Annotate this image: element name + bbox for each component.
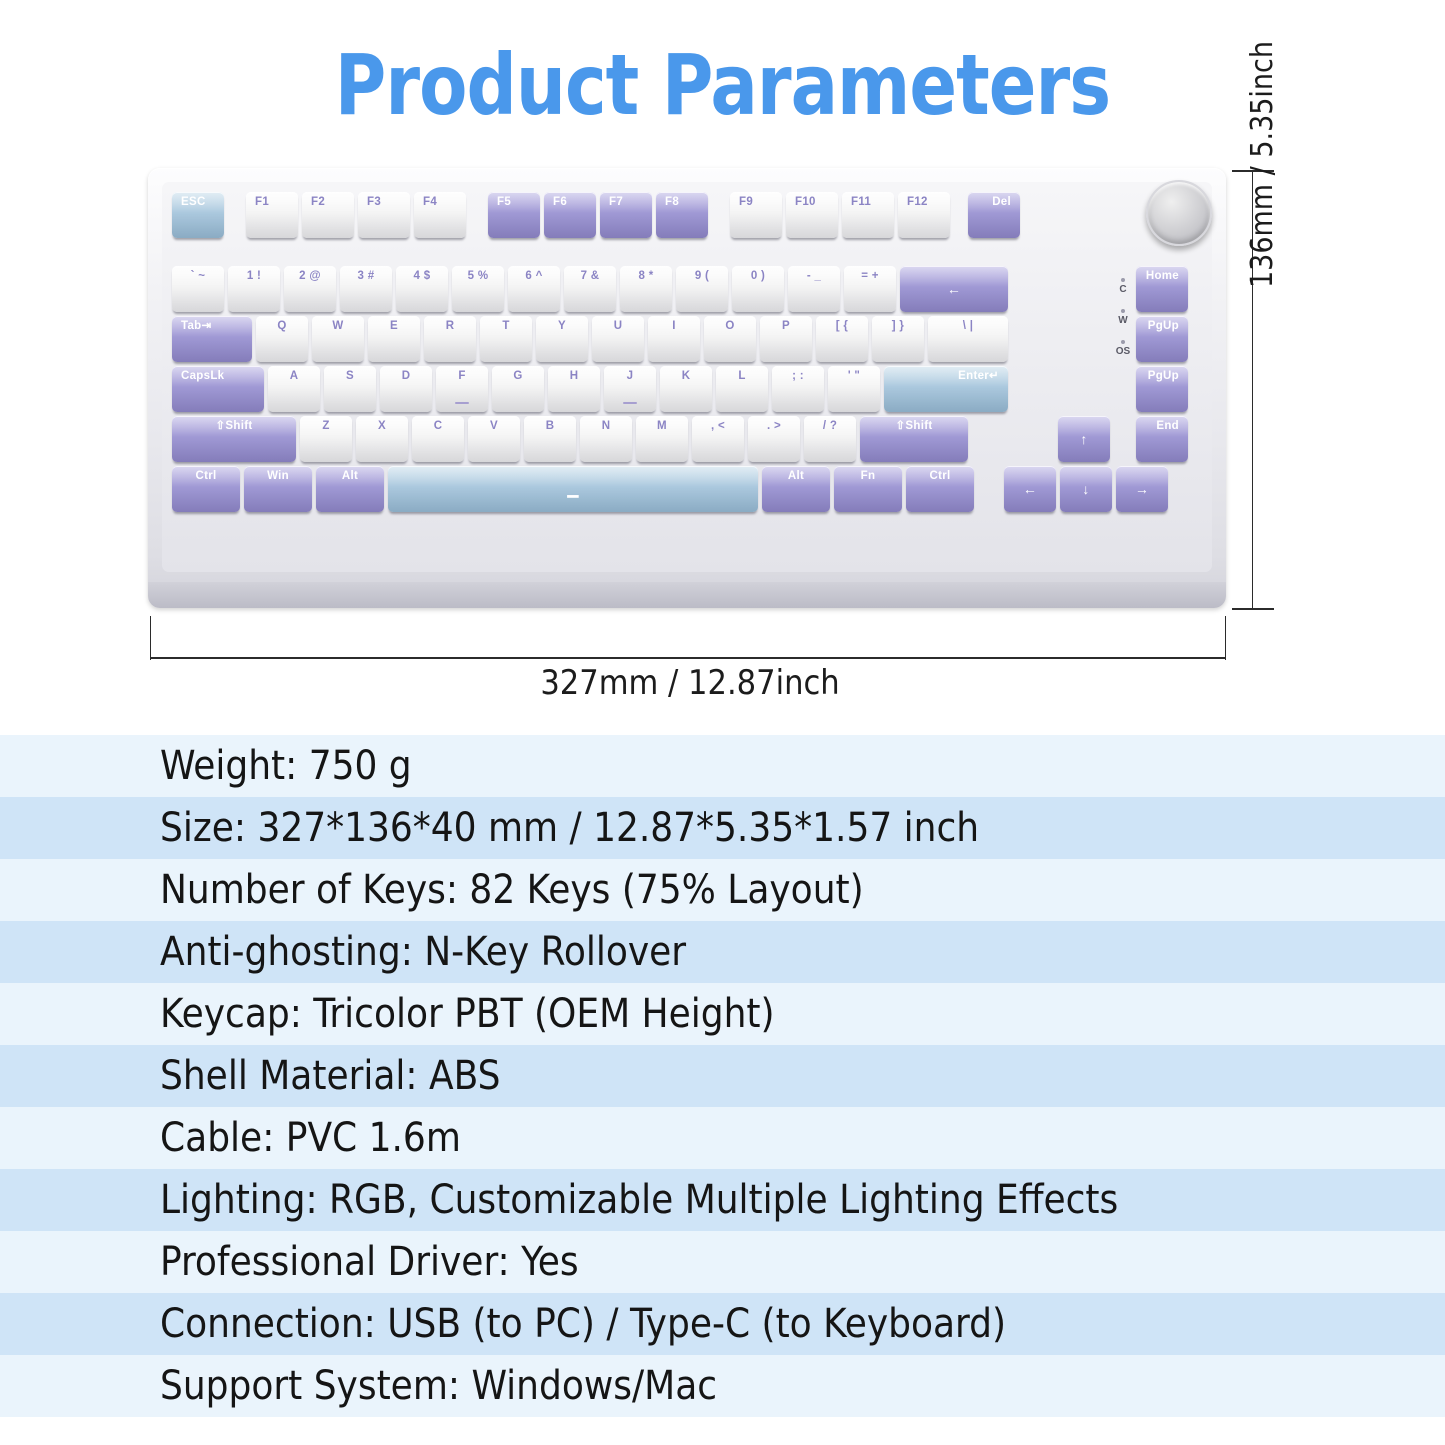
key-f4[interactable]: F4 xyxy=(414,192,466,238)
key-0[interactable]: 0 ) xyxy=(732,266,784,312)
keyboard-nav-column: HomePgUpPgUpEnd xyxy=(1136,266,1188,466)
key-ctrl[interactable]: Ctrl xyxy=(172,466,240,512)
indicator-os: OS xyxy=(1110,340,1136,357)
key-label: M xyxy=(657,421,667,433)
key-9[interactable]: 9 ( xyxy=(676,266,728,312)
key-enter[interactable]: Enter↵ xyxy=(884,366,1008,412)
key-label: Enter↵ xyxy=(958,371,999,383)
key-m[interactable]: M xyxy=(636,416,688,462)
key-label: - _ xyxy=(807,271,821,283)
key-label: 1 ! xyxy=(247,271,261,283)
key-label: CapsLk xyxy=(181,371,224,383)
key-f10[interactable]: F10 xyxy=(786,192,838,238)
key-7[interactable]: 7 & xyxy=(564,266,616,312)
key-label: F xyxy=(458,371,465,383)
key-home[interactable]: Home xyxy=(1136,266,1188,312)
key-label: W xyxy=(332,321,343,333)
spec-text: Shell Material: ABS xyxy=(160,1053,500,1099)
key-label: Fn xyxy=(861,471,876,483)
key-label: \ | xyxy=(963,321,974,333)
key-label: F10 xyxy=(795,197,816,209)
key-f2[interactable]: F2 xyxy=(302,192,354,238)
key-key[interactable]: / ? xyxy=(804,416,856,462)
spec-list: Weight: 750 gSize: 327*136*40 mm / 12.87… xyxy=(0,735,1445,1417)
key-ctrl[interactable]: Ctrl xyxy=(906,466,974,512)
key-f8[interactable]: F8 xyxy=(656,192,708,238)
key-label: [ { xyxy=(836,321,848,333)
spec-text: Size: 327*136*40 mm / 12.87*5.35*1.57 in… xyxy=(160,805,979,851)
key-label: C xyxy=(434,421,443,433)
width-tick-right xyxy=(1225,616,1226,660)
key-label: T xyxy=(502,321,509,333)
key-label: ▁ xyxy=(567,482,578,496)
height-tick-bottom xyxy=(1232,608,1274,610)
key-label: PgUp xyxy=(1148,321,1179,333)
key-label: 4 $ xyxy=(414,271,431,283)
key-k[interactable]: K xyxy=(660,366,712,412)
key-label: F2 xyxy=(311,197,325,209)
key-f6[interactable]: F6 xyxy=(544,192,596,238)
key-z[interactable]: Z xyxy=(300,416,352,462)
key-key[interactable]: ▁ xyxy=(388,466,758,512)
key-f3[interactable]: F3 xyxy=(358,192,410,238)
key-arrow-up[interactable]: ↑ xyxy=(1058,416,1110,462)
key-label: F9 xyxy=(739,197,753,209)
key-label: K xyxy=(682,371,691,383)
spec-row: Shell Material: ABS xyxy=(0,1045,1445,1107)
key-label: Ctrl xyxy=(929,471,950,483)
key-x[interactable]: X xyxy=(356,416,408,462)
key-d[interactable]: D xyxy=(380,366,432,412)
key-label: 3 # xyxy=(358,271,375,283)
key-key[interactable]: . > xyxy=(748,416,800,462)
key-c[interactable]: C xyxy=(412,416,464,462)
key-n[interactable]: N xyxy=(580,416,632,462)
key-label: ⇧Shift xyxy=(216,421,253,433)
key-arrow-down[interactable]: ↓ xyxy=(1060,466,1112,512)
key-key[interactable]: ; : xyxy=(772,366,824,412)
indicator-leds: CWOS xyxy=(1110,278,1136,371)
page-title: Product Parameters xyxy=(51,36,1395,134)
key-label: J xyxy=(627,371,634,383)
spec-text: Cable: PVC 1.6m xyxy=(160,1115,461,1161)
key-l[interactable]: L xyxy=(716,366,768,412)
indicator-label: OS xyxy=(1116,347,1130,357)
key-j[interactable]: J xyxy=(604,366,656,412)
key-label: PgUp xyxy=(1148,371,1179,383)
led-dot-icon xyxy=(1121,309,1125,313)
key-label: ; : xyxy=(792,371,804,383)
key-label: Alt xyxy=(788,471,804,483)
key-alt[interactable]: Alt xyxy=(762,466,830,512)
key-label: 0 ) xyxy=(751,271,765,283)
key-label: F8 xyxy=(665,197,679,209)
key-5[interactable]: 5 % xyxy=(452,266,504,312)
key-8[interactable]: 8 * xyxy=(620,266,672,312)
key-key[interactable]: = + xyxy=(844,266,896,312)
key-label: ] } xyxy=(892,321,904,333)
key-label: U xyxy=(614,321,623,333)
key-label: Alt xyxy=(342,471,358,483)
key-label: 8 * xyxy=(639,271,654,283)
key-label: G xyxy=(513,371,522,383)
key-label: O xyxy=(725,321,734,333)
width-tick-left xyxy=(150,616,151,660)
key-i[interactable]: I xyxy=(648,316,700,362)
key-capslk[interactable]: CapsLk xyxy=(172,366,264,412)
key-del[interactable]: Del xyxy=(968,192,1020,238)
indicator-label: C xyxy=(1119,285,1126,295)
key-4[interactable]: 4 $ xyxy=(396,266,448,312)
key-label: ← xyxy=(947,282,961,296)
key-g[interactable]: G xyxy=(492,366,544,412)
indicator-w: W xyxy=(1110,309,1136,326)
key-label: F6 xyxy=(553,197,567,209)
key-f12[interactable]: F12 xyxy=(898,192,950,238)
key-w[interactable]: W xyxy=(312,316,364,362)
spec-text: Connection: USB (to PC) / Type-C (to Key… xyxy=(160,1301,1006,1347)
key-label: D xyxy=(402,371,411,383)
key-label: F11 xyxy=(851,197,871,209)
key-fn[interactable]: Fn xyxy=(834,466,902,512)
key-label: 7 & xyxy=(581,271,600,283)
key-o[interactable]: O xyxy=(704,316,756,362)
key-label: , < xyxy=(711,421,725,433)
indicator-label: W xyxy=(1118,316,1127,326)
spec-row: Support System: Windows/Mac xyxy=(0,1355,1445,1417)
key-key[interactable]: [ { xyxy=(816,316,868,362)
key-1[interactable]: 1 ! xyxy=(228,266,280,312)
key-label: = + xyxy=(861,271,879,283)
spec-text: Number of Keys: 82 Keys (75% Layout) xyxy=(160,867,864,913)
key-f1[interactable]: F1 xyxy=(246,192,298,238)
arrow-up-row: ↑ xyxy=(1058,416,1110,462)
spec-row: Number of Keys: 82 Keys (75% Layout) xyxy=(0,859,1445,921)
keyboard-row-bottom: CtrlWinAlt▁AltFnCtrl xyxy=(172,466,974,512)
key-label: R xyxy=(446,321,455,333)
key-v[interactable]: V xyxy=(468,416,520,462)
indicator-c: C xyxy=(1110,278,1136,295)
key-key[interactable]: \ | xyxy=(928,316,1008,362)
spec-text: Keycap: Tricolor PBT (OEM Height) xyxy=(160,991,775,1037)
keyboard-row-shift: ⇧ShiftZXCVBNM, <. >/ ?⇧Shift xyxy=(172,416,968,462)
spec-row: Cable: PVC 1.6m xyxy=(0,1107,1445,1169)
spec-text: Professional Driver: Yes xyxy=(160,1239,579,1285)
key-shift[interactable]: ⇧Shift xyxy=(172,416,296,462)
keyboard-row-function: ESCF1F2F3F4F5F6F7F8F9F10F11F12Del xyxy=(172,192,1020,238)
key-b[interactable]: B xyxy=(524,416,576,462)
spec-text: Support System: Windows/Mac xyxy=(160,1363,717,1409)
key-y[interactable]: Y xyxy=(536,316,588,362)
key-f[interactable]: F xyxy=(436,366,488,412)
led-dot-icon xyxy=(1121,340,1125,344)
key-label: F5 xyxy=(497,197,511,209)
key-3[interactable]: 3 # xyxy=(340,266,392,312)
keyboard-row-caps: CapsLkASDFGHJKL; :' "Enter↵ xyxy=(172,366,1008,412)
key-label: Y xyxy=(558,321,566,333)
spec-row: Lighting: RGB, Customizable Multiple Lig… xyxy=(0,1169,1445,1231)
key-pgup[interactable]: PgUp xyxy=(1136,316,1188,362)
key-key[interactable]: ` ~ xyxy=(172,266,224,312)
key-label: F7 xyxy=(609,197,623,209)
arrow-bottom-row: ← ↓ → xyxy=(1004,466,1168,512)
key-label: ESC xyxy=(181,197,206,209)
key-label: L xyxy=(738,371,745,383)
key-e[interactable]: E xyxy=(368,316,420,362)
key-label: H xyxy=(570,371,579,383)
key-label: A xyxy=(290,371,299,383)
spec-row: Size: 327*136*40 mm / 12.87*5.35*1.57 in… xyxy=(0,797,1445,859)
key-alt[interactable]: Alt xyxy=(316,466,384,512)
key-label: N xyxy=(602,421,611,433)
spec-text: Lighting: RGB, Customizable Multiple Lig… xyxy=(160,1177,1118,1223)
key-label: F12 xyxy=(907,197,928,209)
key-label: V xyxy=(490,421,498,433)
spec-text: Weight: 750 g xyxy=(160,743,412,789)
key-label: Tab⇥ xyxy=(181,321,211,333)
width-line xyxy=(150,657,1226,659)
key-label: X xyxy=(378,421,386,433)
key-label: Home xyxy=(1146,271,1179,283)
key-end[interactable]: End xyxy=(1136,416,1188,462)
key-key[interactable]: ] } xyxy=(872,316,924,362)
key-arrow-left[interactable]: ← xyxy=(1004,466,1056,512)
key-label: . > xyxy=(767,421,781,433)
key-q[interactable]: Q xyxy=(256,316,308,362)
key-label: 2 @ xyxy=(299,271,321,283)
key-key[interactable]: , < xyxy=(692,416,744,462)
key-p[interactable]: P xyxy=(760,316,812,362)
spec-row: Weight: 750 g xyxy=(0,735,1445,797)
key-label: P xyxy=(782,321,790,333)
key-label: E xyxy=(390,321,398,333)
key-6[interactable]: 6 ^ xyxy=(508,266,560,312)
key-label: F3 xyxy=(367,197,381,209)
key-label: Q xyxy=(277,321,286,333)
spec-row: Anti-ghosting: N-Key Rollover xyxy=(0,921,1445,983)
key-shift[interactable]: ⇧Shift xyxy=(860,416,968,462)
key-label: Z xyxy=(322,421,329,433)
key-label: / ? xyxy=(823,421,837,433)
key-win[interactable]: Win xyxy=(244,466,312,512)
width-label: 327mm / 12.87inch xyxy=(0,663,1380,703)
key-label: B xyxy=(546,421,555,433)
key-2[interactable]: 2 @ xyxy=(284,266,336,312)
product-parameters-page: Product Parameters ESCF1F2F3F4F5F6F7F8F9… xyxy=(0,0,1445,1445)
key-label: End xyxy=(1156,421,1179,433)
key-key[interactable]: - _ xyxy=(788,266,840,312)
key-h[interactable]: H xyxy=(548,366,600,412)
spec-row: Connection: USB (to PC) / Type-C (to Key… xyxy=(0,1293,1445,1355)
key-label: ' " xyxy=(848,371,860,383)
key-r[interactable]: R xyxy=(424,316,476,362)
height-label: 136mm / 5.35inch xyxy=(1245,38,1280,288)
key-label: 5 % xyxy=(468,271,489,283)
key-pgup[interactable]: PgUp xyxy=(1136,366,1188,412)
keyboard-case: ESCF1F2F3F4F5F6F7F8F9F10F11F12Del ` ~1 !… xyxy=(148,168,1226,608)
spec-row: Keycap: Tricolor PBT (OEM Height) xyxy=(0,983,1445,1045)
key-arrow-right[interactable]: → xyxy=(1116,466,1168,512)
key-label: 9 ( xyxy=(695,271,709,283)
key-f5[interactable]: F5 xyxy=(488,192,540,238)
key-label: Win xyxy=(267,471,289,483)
key-label: ` ~ xyxy=(191,271,206,283)
key-f11[interactable]: F11 xyxy=(842,192,894,238)
key-s[interactable]: S xyxy=(324,366,376,412)
key-label: Del xyxy=(992,197,1011,209)
key-tab[interactable]: Tab⇥ xyxy=(172,316,252,362)
key-u[interactable]: U xyxy=(592,316,644,362)
key-key[interactable]: ' " xyxy=(828,366,880,412)
led-dot-icon xyxy=(1121,278,1125,282)
keyboard-row-tab: Tab⇥QWERTYUIOP[ {] }\ | xyxy=(172,316,1008,362)
key-t[interactable]: T xyxy=(480,316,532,362)
spec-row: Professional Driver: Yes xyxy=(0,1231,1445,1293)
key-label: ⇧Shift xyxy=(896,421,933,433)
rotary-knob-icon[interactable] xyxy=(1146,180,1212,246)
keyboard-product-image: ESCF1F2F3F4F5F6F7F8F9F10F11F12Del ` ~1 !… xyxy=(148,168,1226,608)
key-label: I xyxy=(672,321,676,333)
key-label: F1 xyxy=(255,197,269,209)
key-label: F4 xyxy=(423,197,437,209)
keyboard-row-number: ` ~1 !2 @3 #4 $5 %6 ^7 &8 *9 (0 )- _= +← xyxy=(172,266,1008,312)
key-label: Ctrl xyxy=(195,471,216,483)
key-esc[interactable]: ESC xyxy=(172,192,224,238)
spec-text: Anti-ghosting: N-Key Rollover xyxy=(160,929,686,975)
key-label: 6 ^ xyxy=(525,271,542,283)
key-f9[interactable]: F9 xyxy=(730,192,782,238)
key-key[interactable]: ← xyxy=(900,266,1008,312)
key-a[interactable]: A xyxy=(268,366,320,412)
key-label: S xyxy=(346,371,354,383)
key-f7[interactable]: F7 xyxy=(600,192,652,238)
